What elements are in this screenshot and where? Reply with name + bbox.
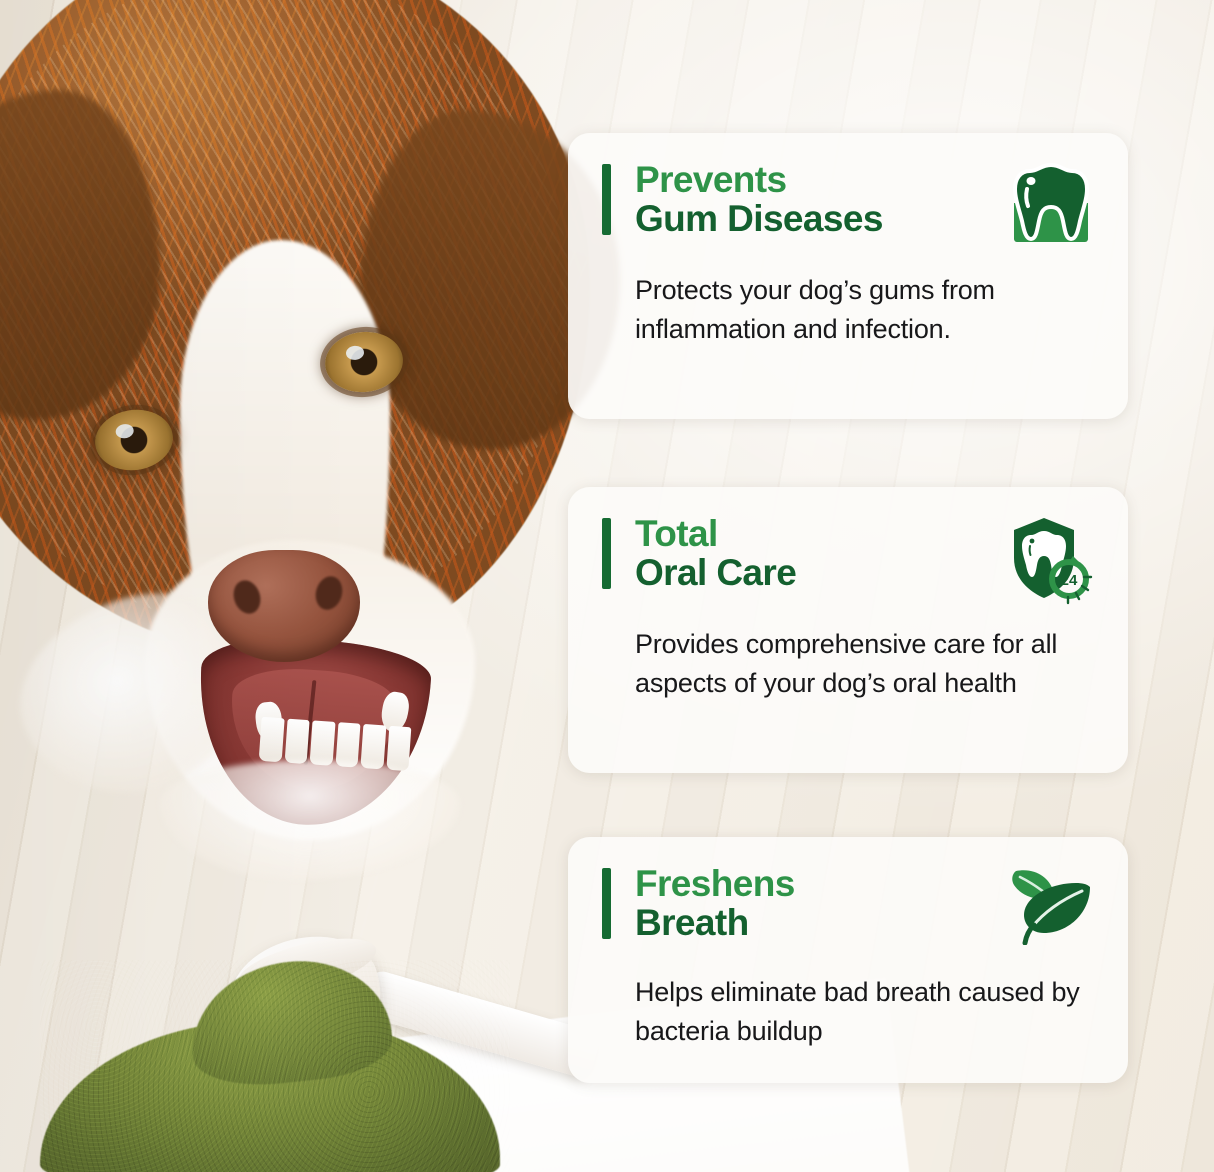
accent-bar xyxy=(602,518,611,589)
card-title-line2: Gum Diseases xyxy=(635,200,883,238)
card-title-line1: Prevents xyxy=(635,161,883,199)
benefit-card-total-oral-care[interactable]: Total Oral Care 24 xyxy=(568,487,1128,773)
card-description: Protects your dog’s gums from inflammati… xyxy=(635,271,1094,349)
card-title: Freshens Breath xyxy=(635,865,795,943)
badge-24-text: 24 xyxy=(1061,572,1078,589)
card-title-group: Prevents Gum Diseases xyxy=(602,161,988,239)
card-description: Provides comprehensive care for all aspe… xyxy=(635,625,1094,703)
dog-photo xyxy=(0,0,630,870)
card-header: Total Oral Care 24 xyxy=(602,515,1094,603)
benefit-card-freshens-breath[interactable]: Freshens Breath Helps eliminate bad brea… xyxy=(568,837,1128,1083)
tooth xyxy=(386,726,412,771)
card-header: Prevents Gum Diseases xyxy=(602,161,1094,249)
card-title-line2: Oral Care xyxy=(635,554,796,592)
card-title-group: Total Oral Care xyxy=(602,515,988,593)
accent-bar xyxy=(602,164,611,235)
card-title-group: Freshens Breath xyxy=(602,865,988,943)
tooth xyxy=(284,719,310,764)
benefit-card-prevents-gum-diseases[interactable]: Prevents Gum Diseases Protects your dog’… xyxy=(568,133,1128,419)
card-header: Freshens Breath xyxy=(602,865,1094,953)
card-description: Helps eliminate bad breath caused by bac… xyxy=(635,973,1094,1051)
card-title: Prevents Gum Diseases xyxy=(635,161,883,239)
two-leaves-icon xyxy=(1002,865,1094,953)
tooth-with-gums-icon xyxy=(1002,161,1094,249)
dog-lower-muzzle xyxy=(160,760,460,880)
card-title: Total Oral Care xyxy=(635,515,796,593)
card-title-line1: Total xyxy=(635,515,796,553)
tooth xyxy=(259,717,285,762)
benefit-cards-list: Prevents Gum Diseases Protects your dog’… xyxy=(568,0,1214,1172)
card-title-line1: Freshens xyxy=(635,865,795,903)
card-title-line2: Breath xyxy=(635,904,795,942)
accent-bar xyxy=(602,868,611,939)
shield-tooth-24h-icon: 24 xyxy=(1002,515,1094,603)
